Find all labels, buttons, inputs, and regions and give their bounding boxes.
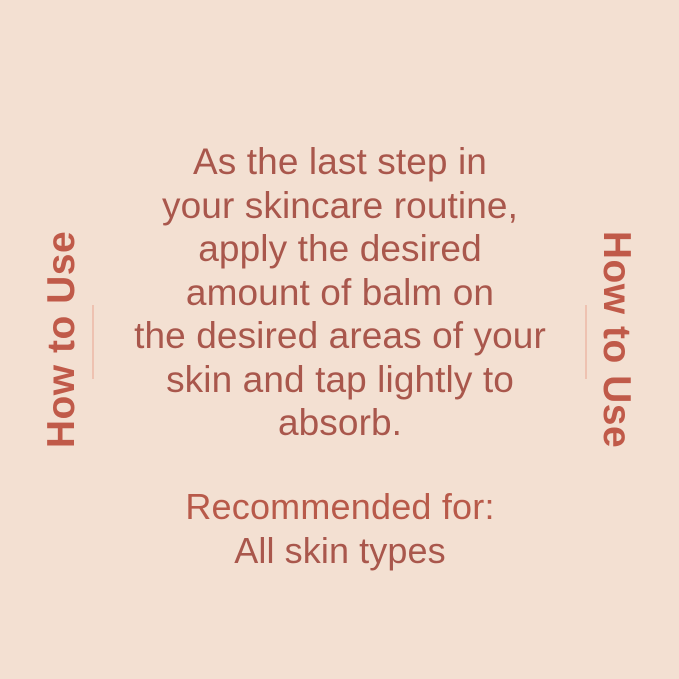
side-label-right-text: How to Use bbox=[598, 231, 637, 448]
divider-left bbox=[92, 305, 94, 379]
recommended-value: All skin types bbox=[110, 529, 570, 573]
recommended-block: Recommended for: All skin types bbox=[110, 484, 570, 573]
side-label-left-text: How to Use bbox=[43, 231, 82, 448]
recommended-label: Recommended for: bbox=[110, 484, 570, 529]
how-to-use-card: How to Use As the last step in your skin… bbox=[0, 0, 679, 679]
instructions-text: As the last step in your skincare routin… bbox=[110, 140, 570, 445]
side-label-left: How to Use bbox=[30, 0, 94, 679]
side-label-right: How to Use bbox=[585, 0, 649, 679]
content-block: As the last step in your skincare routin… bbox=[110, 140, 570, 573]
